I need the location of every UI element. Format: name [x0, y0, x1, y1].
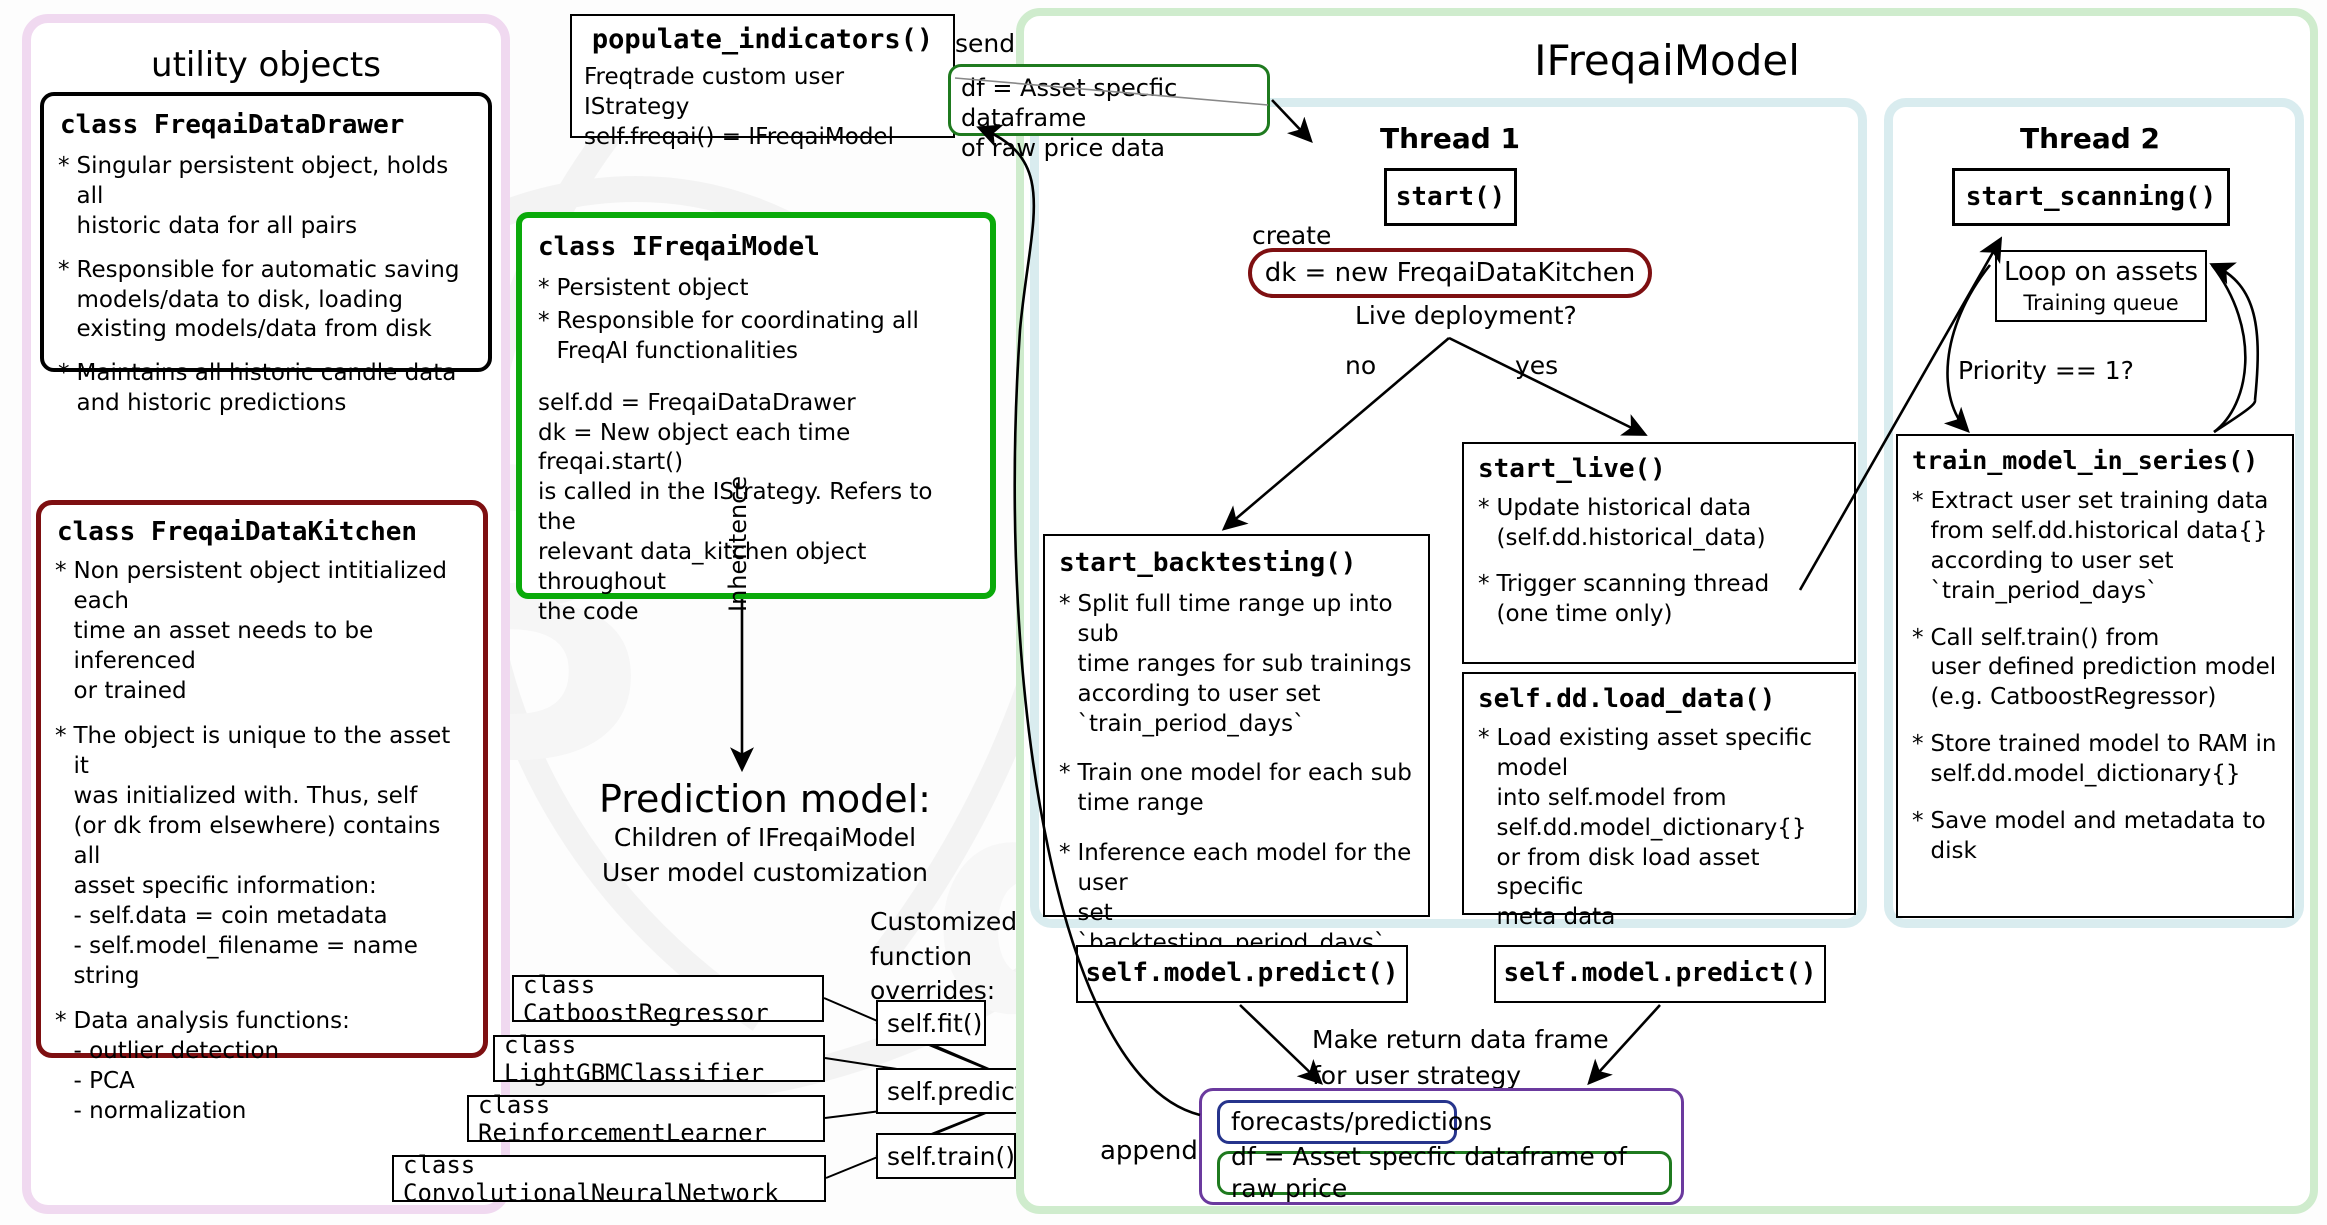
populate-line-1: Freqtrade custom user IStrategy: [584, 63, 941, 123]
class-reinforcement-learner-box: class ReinforcementLearner: [467, 1095, 825, 1142]
list-item: *Inference each model for the user set `…: [1059, 839, 1414, 959]
list-item: *The object is unique to the asset it wa…: [55, 722, 469, 991]
inheritance-label: Inheritence: [723, 476, 754, 612]
list-item: *Singular persistent object, holds all h…: [58, 152, 474, 242]
class-catboost-regressor-box: class CatboostRegressor: [512, 975, 824, 1022]
override-self-train-box: self.train(): [876, 1133, 1016, 1179]
list-item: *Data analysis functions: - outlier dete…: [55, 1007, 469, 1127]
list-item: *Non persistent object intitialized each…: [55, 557, 469, 706]
self-model-predict-left-box: self.model.predict(): [1076, 945, 1408, 1003]
ifreqai-model-class-box: class IFreqaiModel *Persistent object *R…: [516, 212, 996, 599]
freqai-data-drawer-box: class FreqaiDataDrawer *Singular persist…: [40, 92, 492, 372]
dk-new-datakitchen-pill: dk = new FreqaiDataKitchen: [1248, 248, 1652, 298]
start-backtesting-title: start_backtesting(): [1059, 548, 1414, 578]
branch-yes-label: yes: [1515, 350, 1558, 383]
append-label: append: [1100, 1135, 1198, 1169]
train-model-in-series-title: train_model_in_series(): [1912, 446, 2278, 475]
thread-2-label: Thread 2: [1960, 122, 2220, 155]
start-scanning-label: start_scanning(): [1955, 171, 2227, 223]
ifreqai-model-bullets: *Persistent object *Responsible for coor…: [538, 274, 974, 367]
live-deployment-decision-label: Live deployment?: [1355, 300, 1577, 333]
list-item: *Train one model for each sub time range: [1059, 759, 1414, 819]
list-item: *Save model and metadata to disk: [1912, 807, 2278, 867]
customized-overrides-label: Customized function overrides:: [870, 905, 1017, 1009]
self-model-predict-left-label: self.model.predict(): [1078, 947, 1406, 999]
ifreqai-model-class-name: class IFreqaiModel: [538, 232, 974, 262]
freqai-data-drawer-bullets: *Singular persistent object, holds all h…: [58, 152, 474, 419]
load-data-title: self.dd.load_data(): [1478, 684, 1840, 714]
forecasts-predictions-pill: forecasts/predictions: [1217, 1100, 1457, 1144]
train-model-in-series-bullets: *Extract user set training data from sel…: [1912, 487, 2278, 867]
make-return-dataframe-label: Make return data frame for user strategy: [1312, 1022, 1609, 1095]
populate-line-2: self.freqai() = IFreqaiModel: [584, 123, 941, 153]
load-data-box: self.dd.load_data() *Load existing asset…: [1462, 672, 1856, 915]
start-backtesting-bullets: *Split full time range up into sub time …: [1059, 590, 1414, 959]
return-dataframe-box: forecasts/predictions df = Asset specfic…: [1199, 1088, 1684, 1205]
override-self-predict-box: self.predict(): [876, 1068, 1039, 1114]
list-item: *Call self.train() from user defined pre…: [1912, 624, 2278, 714]
priority-condition-label: Priority == 1?: [1958, 355, 2134, 388]
freqai-data-kitchen-box: class FreqaiDataKitchen *Non persistent …: [36, 500, 488, 1058]
branch-no-label: no: [1345, 350, 1376, 383]
loop-on-assets-title: Loop on assets: [1997, 256, 2205, 290]
list-item: *Persistent object: [538, 274, 974, 304]
override-self-fit-box: self.fit(): [876, 1000, 986, 1046]
populate-indicators-title: populate_indicators(): [584, 24, 941, 55]
class-convolutional-neural-network-box: class ConvolutionalNeuralNetwork: [392, 1155, 826, 1202]
prediction-model-subtitle: Children of IFreqaiModel User model cust…: [575, 820, 955, 890]
list-item: *Update historical data (self.dd.histori…: [1478, 494, 1840, 554]
populate-indicators-box: populate_indicators() Freqtrade custom u…: [570, 14, 955, 138]
dk-new-datakitchen-text: dk = new FreqaiDataKitchen: [1252, 252, 1648, 294]
start-live-title: start_live(): [1478, 454, 1840, 484]
thread-1-label: Thread 1: [1320, 122, 1580, 155]
send-label: send: [955, 28, 1015, 61]
loop-on-assets-subtitle: Training queue: [1997, 290, 2205, 317]
start-function-label: start(): [1387, 171, 1514, 223]
list-item: *Store trained model to RAM in self.dd.m…: [1912, 730, 2278, 790]
start-function-box: start(): [1384, 168, 1517, 226]
loop-on-assets-box: Loop on assets Training queue: [1995, 250, 2207, 322]
start-scanning-box: start_scanning(): [1952, 168, 2230, 226]
start-live-box: start_live() *Update historical data (se…: [1462, 442, 1856, 664]
start-live-bullets: *Update historical data (self.dd.histori…: [1478, 494, 1840, 630]
list-item: *Extract user set training data from sel…: [1912, 487, 2278, 607]
list-item: *Load existing asset specific model into…: [1478, 724, 1840, 933]
df-send-dataframe-box: df = Asset specfic dataframe of raw pric…: [948, 64, 1270, 136]
load-data-bullets: *Load existing asset specific model into…: [1478, 724, 1840, 933]
list-item: *Trigger scanning thread (one time only): [1478, 570, 1840, 630]
list-item: *Split full time range up into sub time …: [1059, 590, 1414, 739]
self-model-predict-right-label: self.model.predict(): [1496, 947, 1824, 999]
list-item: *Responsible for coordinating all FreqAI…: [538, 307, 974, 367]
train-model-in-series-box: train_model_in_series() *Extract user se…: [1896, 434, 2294, 918]
list-item: *Responsible for automatic saving models…: [58, 256, 474, 346]
prediction-model-title: Prediction model:: [575, 775, 955, 824]
class-lightgbm-classifier-box: class LightGBMClassifier: [493, 1035, 825, 1082]
start-backtesting-box: start_backtesting() *Split full time ran…: [1043, 534, 1430, 917]
freqai-data-kitchen-class-name: class FreqaiDataKitchen: [57, 517, 469, 547]
self-model-predict-right-box: self.model.predict(): [1494, 945, 1826, 1003]
df-send-text: df = Asset specfic dataframe of raw pric…: [951, 67, 1267, 169]
diagram-canvas: ₿ qAI utility objects class FreqaiDataDr…: [0, 0, 2327, 1225]
freqai-data-kitchen-bullets: *Non persistent object intitialized each…: [55, 557, 469, 1127]
ifreqai-model-notes: self.dd = FreqaiDataDrawer dk = New obje…: [538, 389, 974, 628]
freqai-data-drawer-class-name: class FreqaiDataDrawer: [60, 110, 474, 140]
df-raw-price-pill: df = Asset specfic dataframe of raw pric…: [1217, 1151, 1672, 1195]
list-item: *Maintains all historic candle data and …: [58, 359, 474, 419]
utility-objects-title: utility objects: [31, 45, 501, 85]
